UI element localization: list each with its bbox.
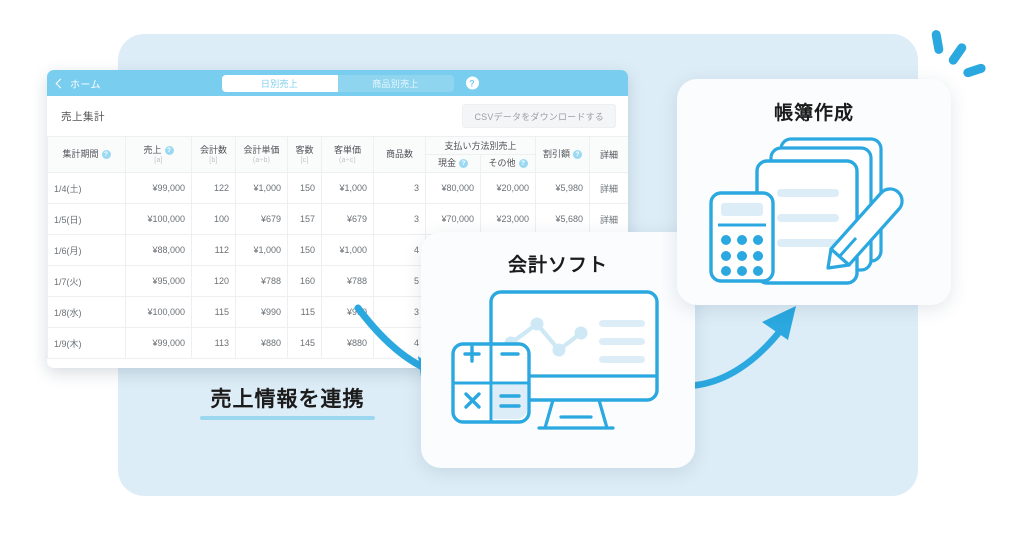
back-label: ホーム [70,76,101,91]
row-period: 1/8(水) [48,297,126,328]
row-check-unit-price: ¥990 [236,297,288,328]
help-icon[interactable]: ? [519,159,528,168]
row-item-count: 3 [374,204,426,235]
col-detail: 詳細 [590,137,628,173]
row-guest-unit-price: ¥1,000 [322,235,374,266]
col-check-unit-price: 会計単価 (a÷b) [236,137,288,173]
caption-underline [200,416,375,420]
sparkle-dash [962,63,987,79]
col-guest-unit-price: 客単価 (a÷c) [322,137,374,173]
arrow-up-right-icon [676,300,816,405]
col-sales: 売上? [a] [126,137,192,173]
row-sales: ¥88,000 [126,235,192,266]
table-header-row: 集計期間? 売上? [a] 会計数 [b] 会計単価 (a÷b) 客数 [c] [48,137,629,155]
col-check-count: 会計数 [b] [192,137,236,173]
col-discount: 割引額? [536,137,590,173]
caption-text: 売上情報を連携 [200,383,375,413]
row-period: 1/4(土) [48,173,126,204]
row-guest-count: 160 [288,266,322,297]
row-check-count: 120 [192,266,236,297]
help-icon[interactable]: ? [573,150,582,159]
row-detail-link[interactable]: 詳細 [590,204,628,235]
col-item-count: 商品数 [374,137,426,173]
row-period: 1/6(月) [48,235,126,266]
table-row[interactable]: 1/5(日)¥100,000100¥679157¥6793¥70,000¥23,… [48,204,629,235]
col-cash: 現金? [426,155,481,173]
row-guest-unit-price: ¥1,000 [322,173,374,204]
row-guest-count: 145 [288,328,322,359]
help-icon[interactable]: ? [165,146,174,155]
row-guest-count: 150 [288,173,322,204]
col-period: 集計期間? [48,137,126,173]
row-check-count: 100 [192,204,236,235]
help-icon[interactable]: ? [459,159,468,168]
row-discount: ¥5,980 [536,173,590,204]
app-header-bar: ホーム 日別売上 商品別売上 ? [47,70,628,96]
col-group-payment-method: 支払い方法別売上 [426,137,536,155]
row-item-count: 4 [374,235,426,266]
row-period: 1/5(日) [48,204,126,235]
row-sales: ¥99,000 [126,328,192,359]
col-guest-count: 客数 [c] [288,137,322,173]
sparkle-dash [931,29,944,54]
help-icon[interactable]: ? [466,77,479,90]
row-sales: ¥95,000 [126,266,192,297]
row-check-unit-price: ¥679 [236,204,288,235]
bookkeeping-title: 帳簿作成 [677,98,951,125]
bookkeeping-card: 帳簿作成 [677,79,951,305]
row-guest-count: 115 [288,297,322,328]
row-cash: ¥70,000 [426,204,481,235]
row-sales: ¥100,000 [126,204,192,235]
monitor-chart-calculator-illustration [449,288,669,448]
row-item-count: 3 [374,173,426,204]
row-check-unit-price: ¥788 [236,266,288,297]
row-other: ¥20,000 [481,173,536,204]
sparkle-dash [947,42,968,67]
row-other: ¥23,000 [481,204,536,235]
row-guest-count: 157 [288,204,322,235]
row-check-count: 115 [192,297,236,328]
tab-product-sales[interactable]: 商品別売上 [338,75,454,92]
row-period: 1/9(木) [48,328,126,359]
tab-daily-sales[interactable]: 日別売上 [222,75,338,92]
report-type-tabs[interactable]: 日別売上 商品別売上 [222,75,454,92]
row-check-unit-price: ¥1,000 [236,235,288,266]
row-check-count: 122 [192,173,236,204]
row-item-count: 5 [374,266,426,297]
page-title: 売上集計 [61,109,105,124]
row-detail-link[interactable]: 詳細 [590,173,628,204]
table-row[interactable]: 1/4(土)¥99,000122¥1,000150¥1,0003¥80,000¥… [48,173,629,204]
row-check-unit-price: ¥880 [236,328,288,359]
chevron-left-icon [56,78,66,88]
link-sales-info-caption: 売上情報を連携 [200,383,375,420]
row-sales: ¥99,000 [126,173,192,204]
row-discount: ¥5,680 [536,204,590,235]
row-period: 1/7(火) [48,266,126,297]
calculator-documents-pencil-illustration [709,131,924,286]
col-other: その他? [481,155,536,173]
row-sales: ¥100,000 [126,297,192,328]
download-csv-button[interactable]: CSVデータをダウンロードする [462,104,616,128]
row-guest-unit-price: ¥788 [322,266,374,297]
accounting-software-title: 会計ソフト [421,250,695,277]
back-to-home-button[interactable]: ホーム [57,76,101,91]
accounting-software-card: 会計ソフト [421,232,695,468]
row-check-count: 113 [192,328,236,359]
row-check-count: 112 [192,235,236,266]
sparkle-lines-icon [925,28,995,80]
row-guest-count: 150 [288,235,322,266]
row-cash: ¥80,000 [426,173,481,204]
help-icon[interactable]: ? [102,150,111,159]
row-check-unit-price: ¥1,000 [236,173,288,204]
table-toolbar: 売上集計 CSVデータをダウンロードする [47,96,628,136]
row-guest-unit-price: ¥679 [322,204,374,235]
